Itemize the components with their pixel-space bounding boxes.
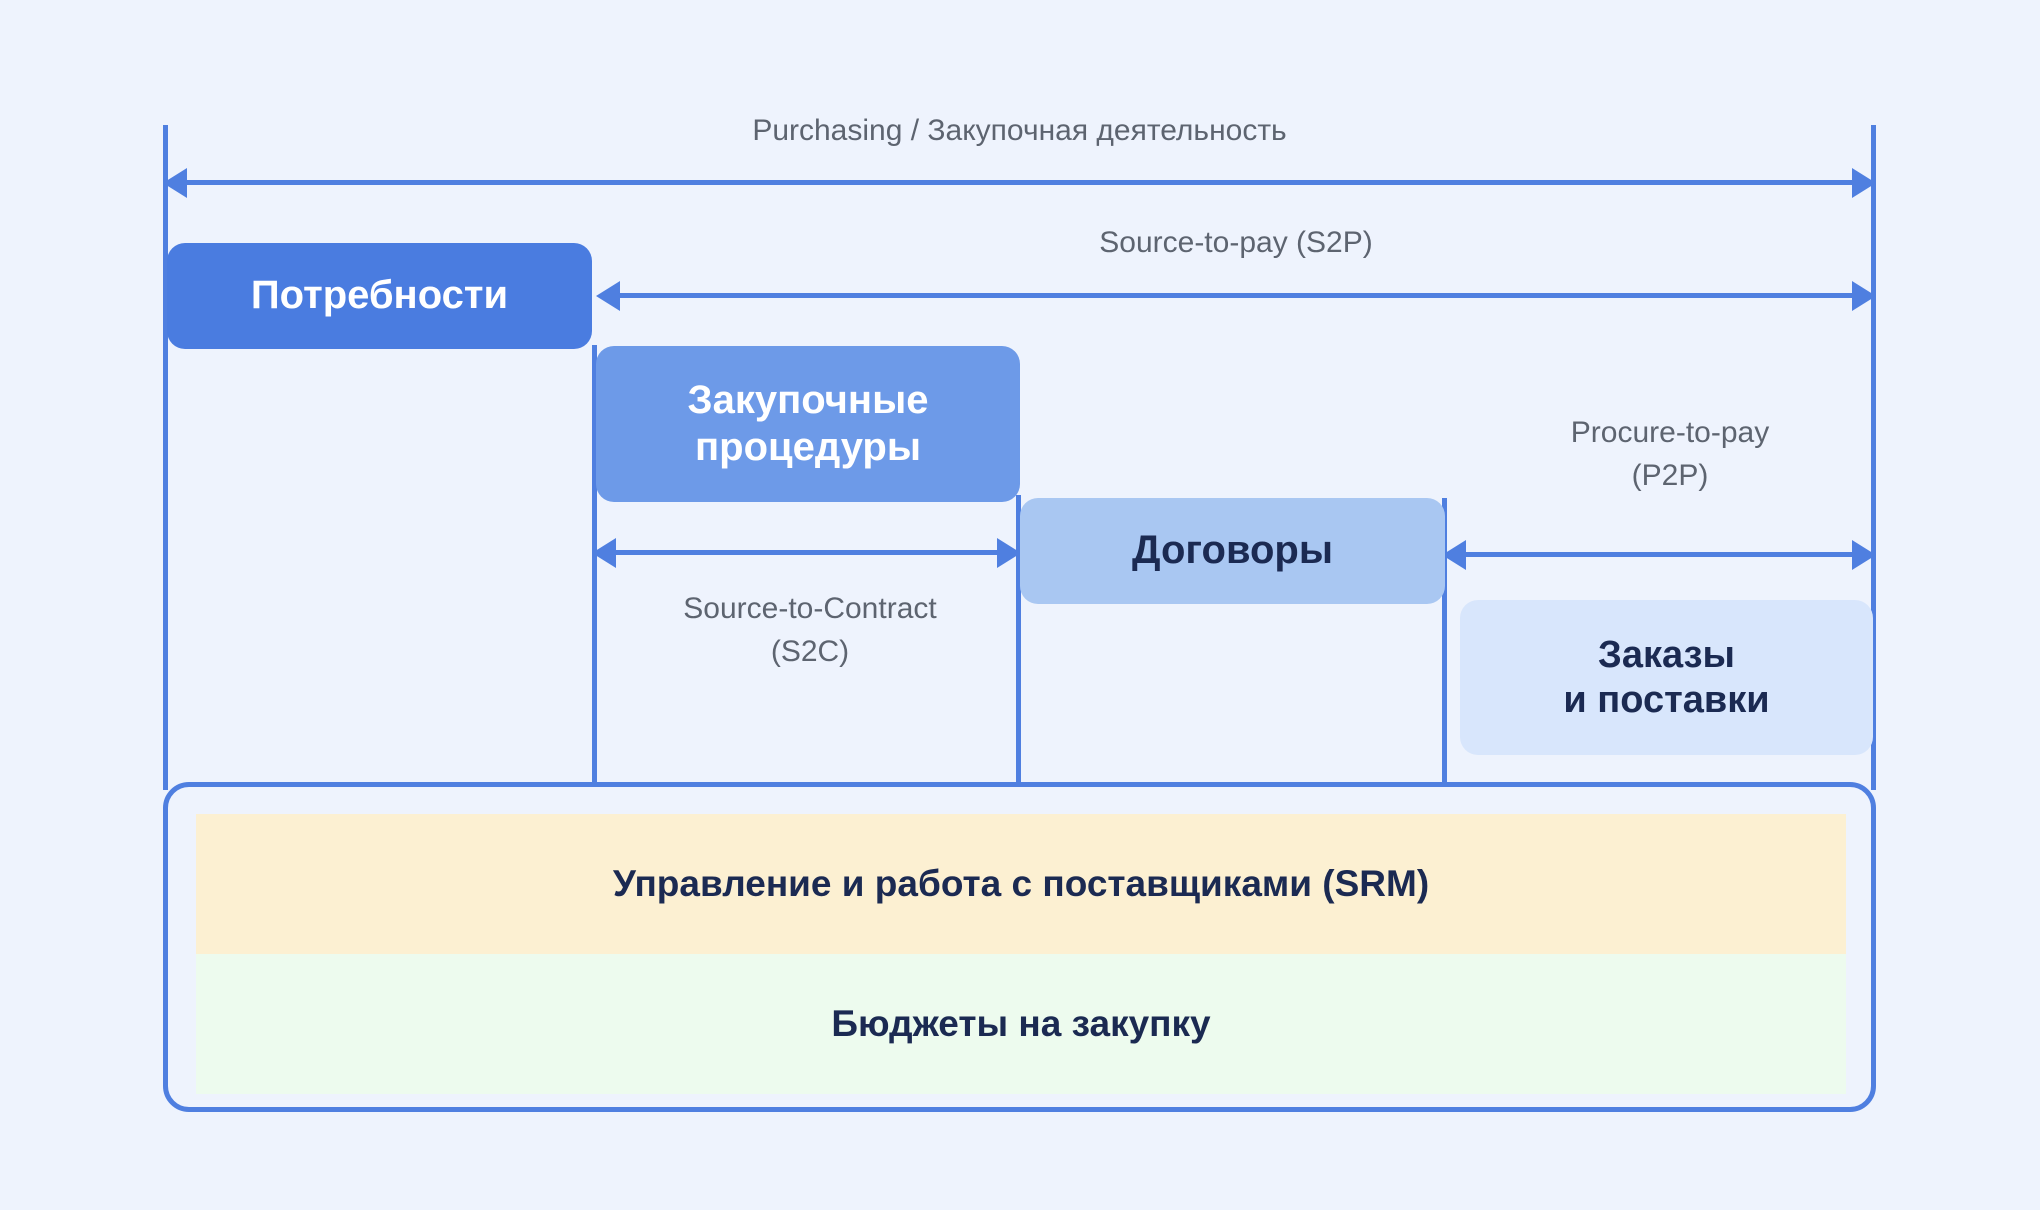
scope-label-p2p-line1: Procure-to-pay xyxy=(1470,412,1870,455)
step-box-procedures[interactable]: Закупочные процедуры xyxy=(596,346,1020,502)
diagram-canvas: Purchasing / Закупочная деятельность Sou… xyxy=(0,0,2040,1210)
scope-label-p2p: Procure-to-pay (P2P) xyxy=(1470,412,1870,497)
scope-label-purchasing-text: Purchasing / Закупочная деятельность xyxy=(752,114,1286,147)
arrowhead-right-s2p xyxy=(1852,281,1876,311)
scope-label-purchasing: Purchasing / Закупочная деятельность xyxy=(163,110,1876,153)
step-box-procedures-label-line1: Закупочные xyxy=(688,377,929,424)
scope-label-s2p: Source-to-pay (S2P) xyxy=(596,222,1876,265)
foundation-container: Управление и работа с поставщиками (SRM)… xyxy=(163,782,1876,1112)
vertical-rule-left xyxy=(163,125,168,790)
scope-label-s2c-line1: Source-to-Contract xyxy=(600,588,1020,631)
step-box-orders-label-line1: Заказы xyxy=(1563,633,1769,678)
arrowhead-left-s2p xyxy=(596,281,620,311)
step-box-procedures-label-line2: процедуры xyxy=(688,424,929,471)
arrowhead-right-purchasing xyxy=(1852,168,1876,198)
step-box-orders-label-line2: и поставки xyxy=(1563,678,1769,723)
scope-label-s2c: Source-to-Contract (S2C) xyxy=(600,588,1020,673)
foundation-band-budgets[interactable]: Бюджеты на закупку xyxy=(196,954,1846,1094)
arrowhead-right-p2p xyxy=(1852,540,1876,570)
step-box-orders[interactable]: Заказы и поставки xyxy=(1460,600,1873,755)
step-box-contracts-label: Договоры xyxy=(1132,527,1333,574)
scope-label-s2c-line2: (S2C) xyxy=(600,631,1020,674)
arrowhead-right-s2c xyxy=(997,538,1021,568)
foundation-band-srm-label: Управление и работа с поставщиками (SRM) xyxy=(613,863,1429,905)
arrowhead-left-s2c xyxy=(592,538,616,568)
scope-label-p2p-line2: (P2P) xyxy=(1470,455,1870,498)
step-box-needs-label: Потребности xyxy=(251,272,508,319)
scope-label-s2p-text: Source-to-pay (S2P) xyxy=(1099,226,1372,259)
foundation-band-srm[interactable]: Управление и работа с поставщиками (SRM) xyxy=(196,814,1846,954)
foundation-band-budgets-label: Бюджеты на закупку xyxy=(831,1003,1210,1045)
arrowhead-left-purchasing xyxy=(163,168,187,198)
step-box-needs[interactable]: Потребности xyxy=(167,243,592,349)
step-box-contracts[interactable]: Договоры xyxy=(1020,498,1445,604)
arrowhead-left-p2p xyxy=(1442,540,1466,570)
